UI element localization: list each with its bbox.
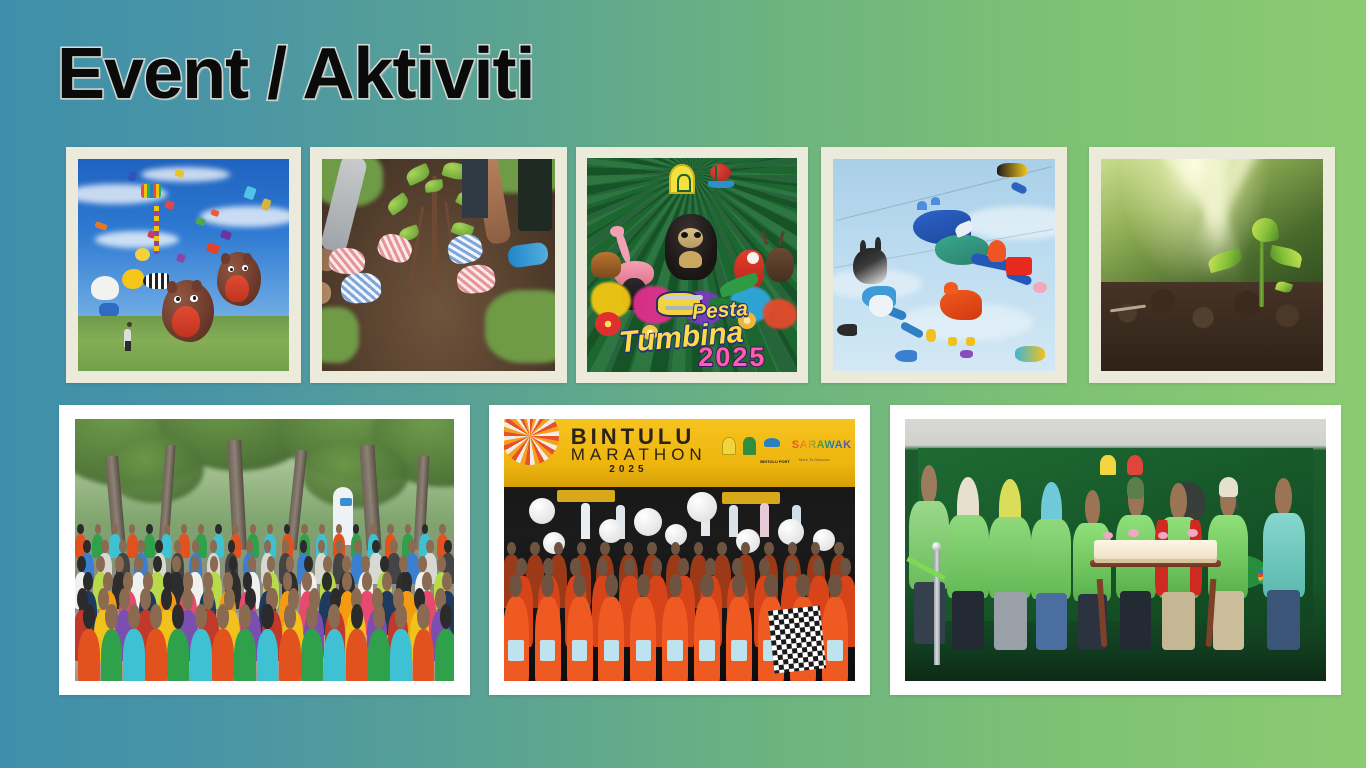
gallery-item-seedling[interactable]: Young seedling sprouting from dark soil … (1089, 147, 1335, 383)
photo-park-group: Large group photo of participants at a p… (75, 419, 454, 681)
crowd-person-head (387, 524, 393, 534)
banner-year-2025: 2025 (609, 464, 647, 475)
photo-dragon-kites: Dragon and dinosaur kites in a pale blue… (833, 159, 1055, 371)
crowd-person-head (250, 524, 256, 534)
crowd-person (123, 629, 145, 681)
marathon-runner-head (694, 542, 703, 556)
runner-bib (508, 640, 524, 661)
crowd-person-head (83, 540, 91, 553)
crowd-person-head (351, 604, 363, 628)
marathon-runner-head (732, 574, 746, 597)
crowd-person-head (215, 524, 221, 534)
crowd-person (368, 629, 390, 681)
ceremony-cake (1094, 540, 1216, 564)
crowd-person-head (153, 556, 162, 572)
crowd-person-head (323, 556, 332, 572)
chipmunk-kite (162, 280, 214, 342)
crowd-person-head (306, 604, 318, 628)
crowd-person (212, 629, 234, 681)
crowd-person-head (217, 604, 229, 628)
crowd-person-head (119, 588, 130, 609)
crowd-person (257, 629, 279, 681)
bintulu-port-logo-label: BINTULU PORT (760, 459, 790, 464)
crowd-person-head (405, 524, 411, 534)
crowd-person-head (210, 540, 218, 553)
seedling-leaf (1268, 245, 1303, 268)
photo-seedling: Young seedling sprouting from dark soil … (1101, 159, 1323, 371)
photo-bintulu-marathon: BINTULU MARATHON 2025 BINTULU PORT SARAW… (504, 419, 855, 681)
council-logo-icon (1127, 455, 1143, 475)
crowd-person-head (442, 572, 452, 590)
crowd-person-head (181, 524, 187, 534)
crowd-person (78, 629, 100, 681)
crowd-person (324, 629, 346, 681)
marathon-runner-head (717, 542, 726, 556)
crowd-person-head (232, 524, 238, 534)
crowd-person-head (319, 524, 325, 534)
crowd-person-head (370, 524, 376, 534)
crowd-person-head (128, 604, 140, 628)
sarawak-crest-icon (1100, 455, 1116, 475)
crowd-person-head (77, 556, 86, 572)
runner-bib (604, 640, 620, 661)
photo-pesta-tumbina-poster: Pesta Tumbina 2025 Pesta Tumbina 2025 ev… (587, 158, 797, 372)
crowd-person-head (239, 604, 251, 628)
sarawak-crest-icon (722, 437, 736, 455)
council-logo-icon (707, 164, 735, 194)
crowd-person-head (96, 556, 105, 572)
marathon-runner (630, 597, 656, 681)
crowd-person-head (192, 540, 200, 553)
chipmunk-kite (217, 252, 261, 306)
crowd-person-head (354, 540, 362, 553)
marathon-runner-head (637, 574, 651, 597)
crowd-person (346, 629, 368, 681)
crowd-person-head (174, 540, 182, 553)
crowd-person-head (373, 604, 385, 628)
crowd-person-head (426, 540, 434, 553)
runner-bib (572, 640, 588, 661)
crowd-person-head (284, 604, 296, 628)
seedling-leaf (1250, 217, 1279, 244)
sarawak-tagline: More To Discover (799, 457, 830, 462)
crowd-person-head (390, 540, 398, 553)
crowd-person-head (444, 540, 452, 553)
crowd-person-head (140, 588, 151, 609)
crowd-person-head (146, 524, 152, 534)
crowd-person-head (439, 524, 445, 534)
photo-cake-cutting: Officials cutting a ceremonial cake on s… (905, 419, 1326, 681)
sarawak-sponsor-label: SARAWAK (792, 439, 852, 451)
marathon-runner-head (507, 542, 516, 556)
marathon-runner-head (577, 542, 586, 556)
marathon-runner-head (811, 542, 820, 556)
crowd-person (390, 629, 412, 681)
marathon-runner-head (828, 574, 842, 597)
balloon (634, 508, 662, 536)
crowd-person (190, 629, 212, 681)
marathon-runner (598, 597, 624, 681)
runner-bib (827, 640, 843, 661)
crowd-person (101, 629, 123, 681)
crowd-person-head (304, 556, 313, 572)
crowd-person-head (267, 556, 276, 572)
crowd-person (145, 629, 167, 681)
marathon-runner (822, 597, 848, 681)
crowd-person-head (115, 556, 124, 572)
stanchion-post (934, 550, 940, 665)
crowd-person-head (105, 604, 117, 628)
crowd-person (279, 629, 301, 681)
crowd-person-head (164, 524, 170, 534)
marathon-runner-head (764, 542, 773, 556)
official-person (1031, 482, 1071, 650)
crowd-person-head (380, 556, 389, 572)
marathon-runner (662, 597, 688, 681)
marathon-runner-head (700, 574, 714, 597)
crowd-person-head (267, 524, 273, 534)
marathon-runner (504, 597, 529, 681)
marathon-runner-head (554, 542, 563, 556)
crowd-person-head (195, 604, 207, 628)
crowd-person-head (95, 524, 101, 534)
marathon-runner-head (669, 574, 683, 597)
balloon (687, 492, 717, 522)
marathon-runner-head (624, 542, 633, 556)
marathon-runner-head (764, 574, 778, 597)
crowd-person-head (422, 524, 428, 534)
marathon-start-arch: BINTULU MARATHON 2025 BINTULU PORT SARAW… (504, 419, 855, 487)
crowd-person-head (353, 524, 359, 534)
crowd-person-head (301, 524, 307, 534)
gallery-item-park-group-photo[interactable]: Large group photo of participants at a p… (59, 405, 470, 695)
balloon (529, 498, 555, 524)
crowd-person (234, 629, 256, 681)
marathon-runner (726, 597, 752, 681)
gallery-item-cake-cutting[interactable]: Officials cutting a ceremonial cake on s… (890, 405, 1341, 695)
crowd-person (144, 534, 155, 558)
marathon-runner-head (530, 542, 539, 556)
marathon-runner-head (600, 542, 609, 556)
sarawak-crest-icon (669, 164, 695, 194)
crowd-person-head (417, 604, 429, 628)
sunburst-logo-icon (504, 419, 559, 465)
crowd-person-head (408, 540, 416, 553)
crowd-person-head (172, 556, 181, 572)
marathon-runner-head (741, 542, 750, 556)
gallery-item-pesta-tumbina[interactable]: Pesta Tumbina 2025 Pesta Tumbina 2025 ev… (576, 147, 808, 383)
gallery-item-tree-planting[interactable]: Community tree planting with gloved hand… (310, 147, 567, 383)
crowd-person (301, 629, 323, 681)
gallery-item-bintulu-marathon[interactable]: BINTULU MARATHON 2025 BINTULU PORT SARAW… (489, 405, 870, 695)
crowd-person-head (129, 524, 135, 534)
crowd-person-head (361, 556, 370, 572)
crowd-person-head (261, 604, 273, 628)
marathon-runner (694, 597, 720, 681)
crowd-person-head (198, 524, 204, 534)
crowd-person-head (372, 540, 380, 553)
crowd-person-head (418, 556, 427, 572)
photo-kite-festival: Kite festival with chipmunk inflatable k… (78, 159, 289, 371)
runner-bib (731, 640, 747, 661)
marathon-runner-head (796, 574, 810, 597)
council-logo-icon (743, 437, 756, 455)
official-person (909, 461, 949, 644)
photo-tree-planting: Community tree planting with gloved hand… (322, 159, 555, 371)
bintulu-port-logo-icon (764, 438, 780, 447)
crowd-person-head (399, 556, 408, 572)
marathon-runner-head (840, 558, 851, 576)
crowd-person (167, 629, 189, 681)
balloon (599, 519, 623, 543)
marathon-runner-head (678, 558, 689, 576)
crowd-person-head (119, 540, 127, 553)
banner-title-marathon: MARATHON (571, 445, 707, 465)
crowd-person (413, 629, 435, 681)
crowd-person-head (150, 604, 162, 628)
runner-bib (540, 640, 556, 661)
official-person (947, 477, 989, 650)
crowd-person-head (101, 540, 109, 553)
runner-bib (636, 640, 652, 661)
marathon-runner-head (605, 574, 619, 597)
event-gallery: Kite festival with chipmunk inflatable k… (0, 0, 1366, 768)
crowd-person-head (437, 556, 446, 572)
crowd-person-head (77, 524, 83, 534)
crowd-person-head (137, 540, 145, 553)
crowd-person-head (286, 556, 295, 572)
crowd-person-head (422, 572, 432, 590)
crowd-person-head (440, 604, 452, 628)
poster-year-2025: 2025 (698, 342, 766, 372)
marathon-runner-head (671, 542, 680, 556)
crowd-person-head (161, 588, 172, 609)
runner-bib (699, 640, 715, 661)
marathon-runner-head (647, 542, 656, 556)
balloon (778, 519, 804, 545)
gallery-item-dragon-kites[interactable]: Dragon and dinosaur kites in a pale blue… (821, 147, 1067, 383)
crowd-person-head (83, 604, 95, 628)
official-person (1263, 474, 1305, 650)
chequered-flag (768, 605, 826, 673)
marathon-runner-head (788, 542, 797, 556)
crowd-person-head (402, 572, 412, 590)
official-person (989, 479, 1031, 649)
gallery-item-kite-festival[interactable]: Kite festival with chipmunk inflatable k… (66, 147, 301, 383)
crowd-person-head (342, 556, 351, 572)
marathon-runner (535, 597, 561, 681)
marathon-runner (567, 597, 593, 681)
crowd-person-head (382, 572, 392, 590)
crowd-person-head (134, 556, 143, 572)
marathon-runner-head (834, 542, 843, 556)
crowd-person (435, 629, 454, 681)
runner-bib (667, 640, 683, 661)
